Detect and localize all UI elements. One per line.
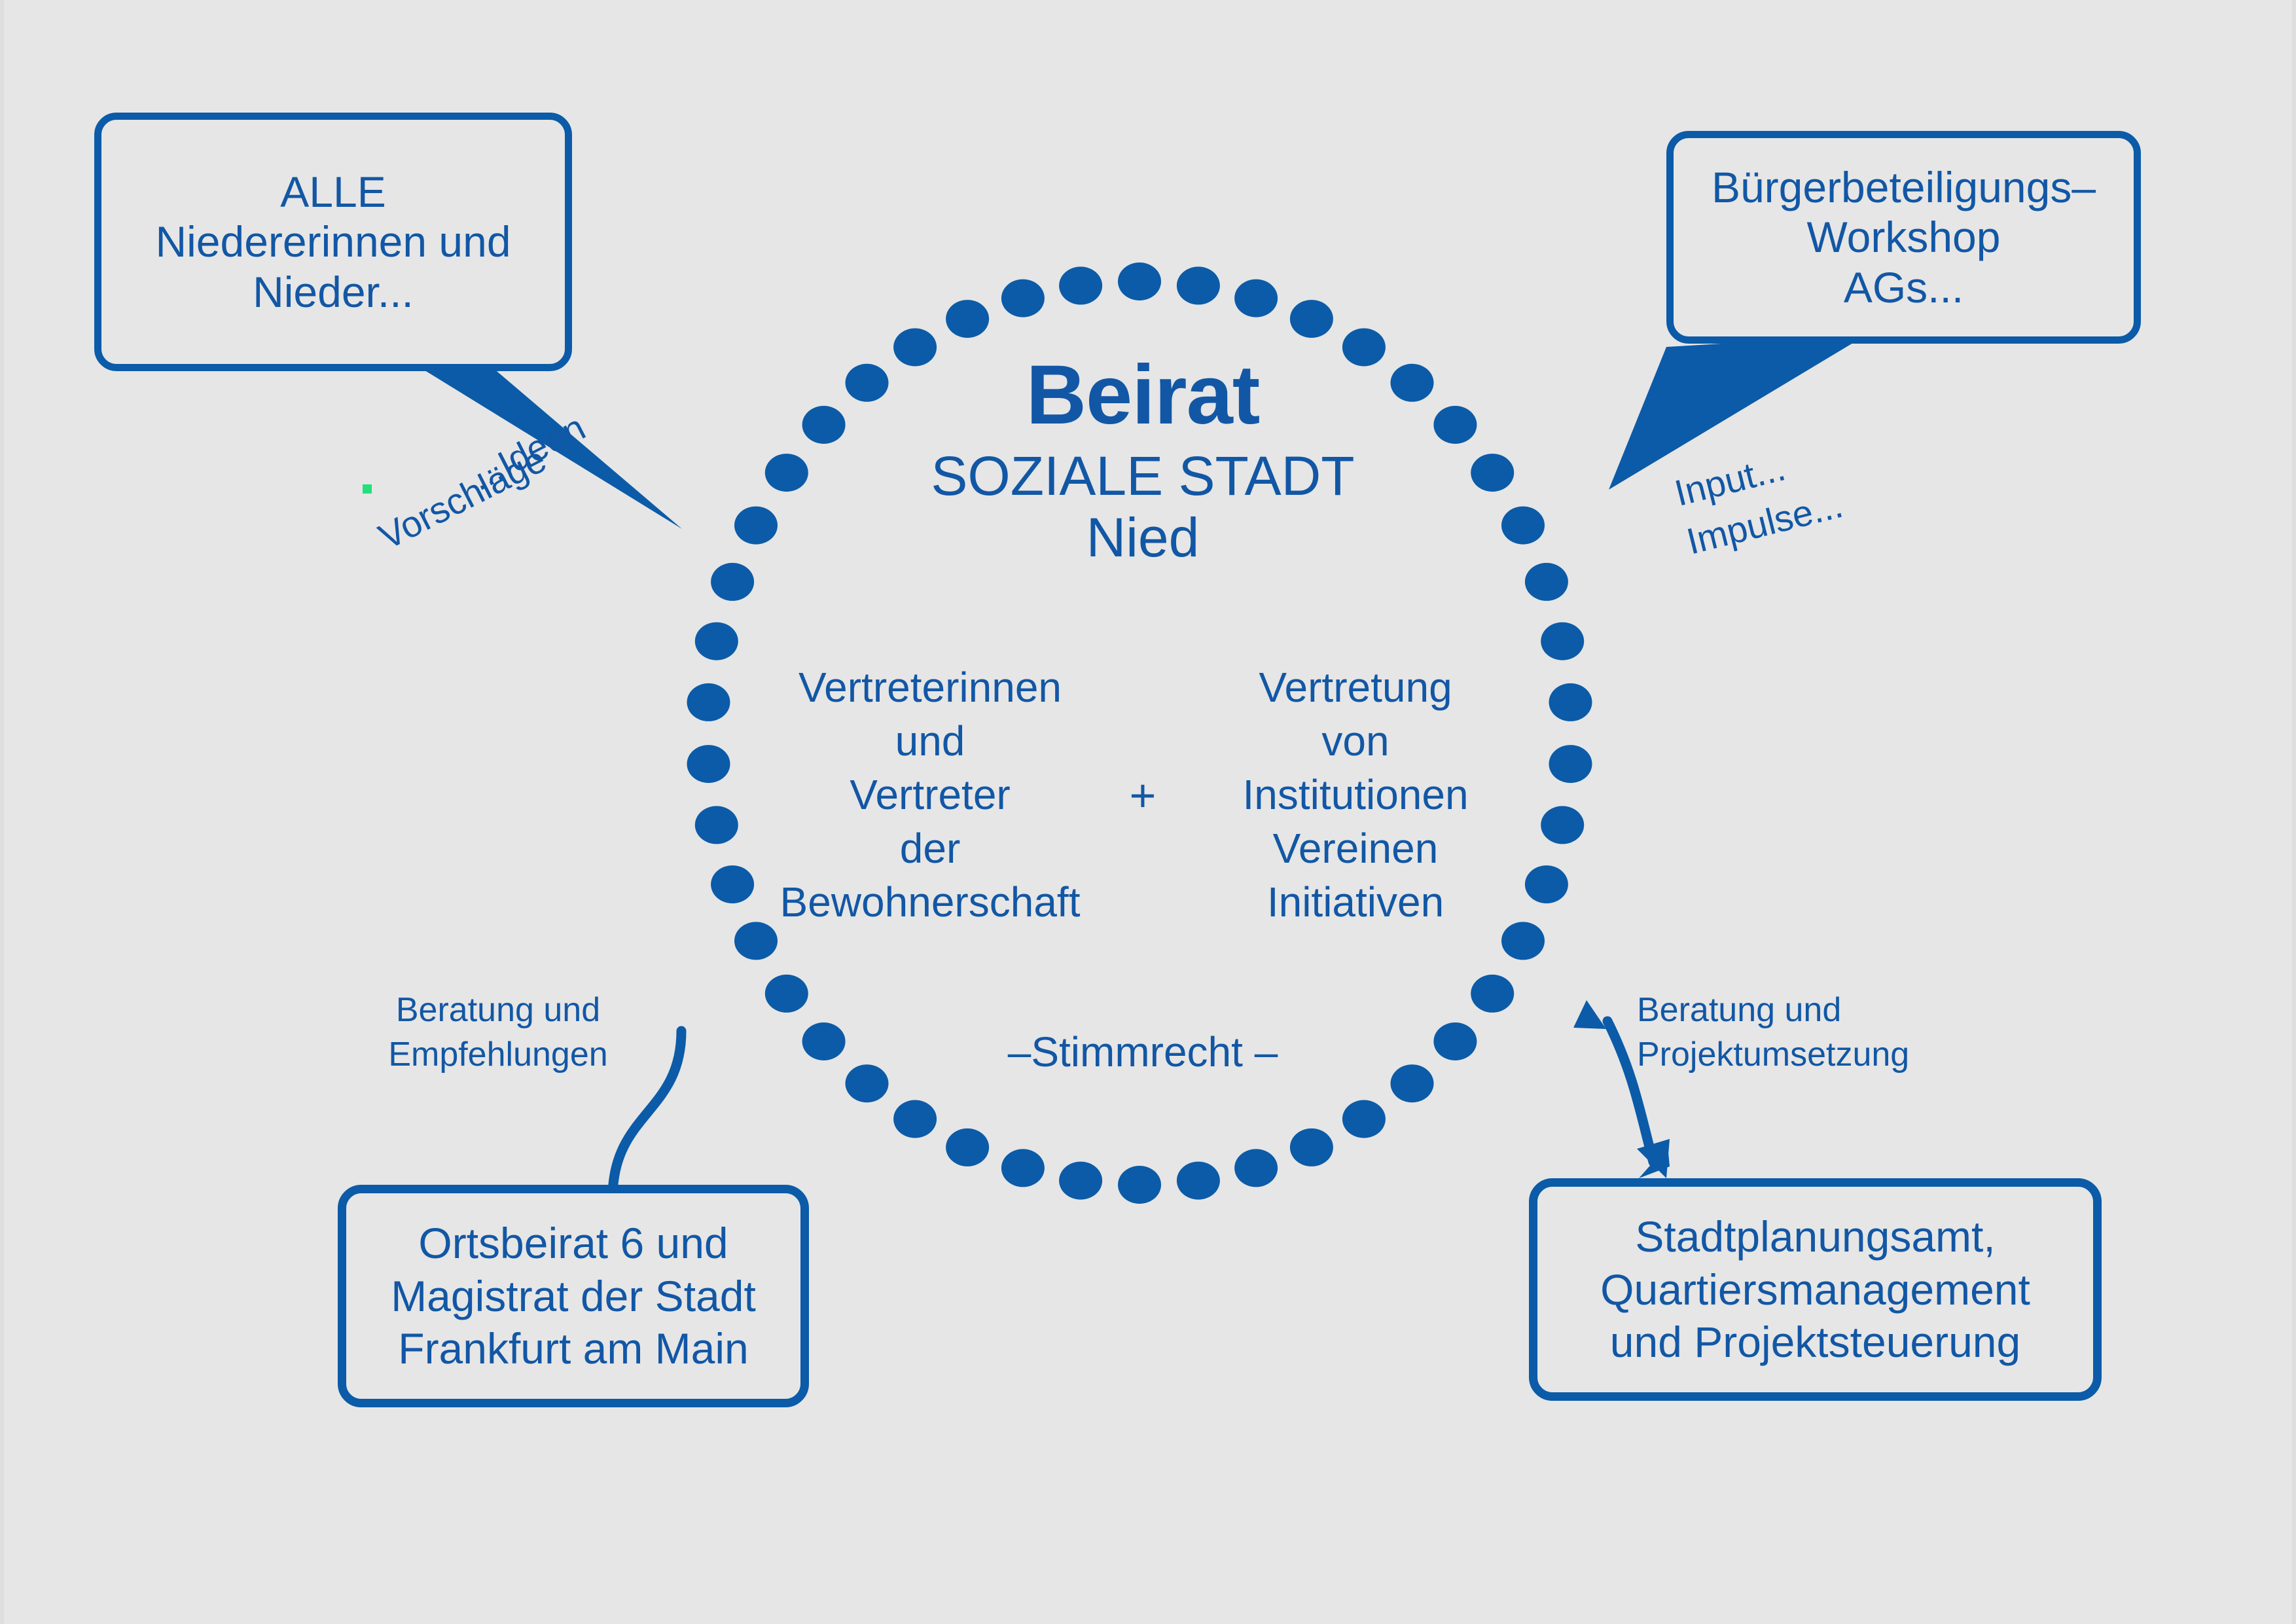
column-institutions: Vertretung von Institutionen Vereinen In…: [1172, 661, 1539, 929]
beirat-composition: Vertreterinnen und Vertreter der Bewohne…: [698, 661, 1588, 929]
column-residents-line-5: Bewohnerschaft: [747, 876, 1113, 929]
annotation-beratung-right-line-2: Projektumsetzung: [1637, 1033, 1964, 1077]
bubble-right-line-2: Workshop: [1807, 212, 2001, 262]
plus-symbol: +: [1113, 769, 1172, 821]
ring-dot: [1177, 266, 1220, 304]
bubble-right-line-1: Bürgerbeteiligungs–: [1712, 162, 2096, 213]
box-left-line-3: Frankfurt am Main: [398, 1322, 748, 1375]
subtitle-soziale-stadt: SOZIALE STADT: [698, 445, 1588, 507]
ring-dot: [1471, 975, 1514, 1013]
box-left-line-1: Ortsbeirat 6 und: [418, 1217, 728, 1270]
column-institutions-line-4: Vereinen: [1172, 822, 1539, 876]
annotation-beratung-empfehlungen: Beratung und Empfehlungen: [357, 988, 639, 1077]
bubble-left-line-1: ALLE: [280, 167, 386, 217]
annotation-beratung-right-line-1: Beratung und: [1637, 988, 1964, 1033]
center-heading-group: Beirat SOZIALE STADT Nied: [698, 353, 1588, 568]
box-stadtplanungsamt[interactable]: Stadtplanungsamt, Quartiersmanagement un…: [1529, 1178, 2102, 1401]
ring-dot: [1290, 1128, 1333, 1166]
green-marker-dot: [363, 484, 372, 494]
ring-dot: [1541, 623, 1584, 660]
column-institutions-line-5: Initiativen: [1172, 876, 1539, 929]
ring-dot: [946, 300, 989, 338]
bubble-left-line-2: Niedererinnen und: [155, 217, 511, 267]
ring-dot: [1525, 563, 1568, 601]
annotation-beratung-left-line-2: Empfehlungen: [357, 1033, 639, 1077]
ring-dot: [1118, 262, 1161, 300]
box-right-line-1: Stadtplanungsamt,: [1635, 1210, 1995, 1263]
ring-dot: [893, 1100, 937, 1138]
ring-dot: [695, 623, 738, 660]
box-ortsbeirat-magistrat[interactable]: Ortsbeirat 6 und Magistrat der Stadt Fra…: [338, 1185, 809, 1407]
ring-dot: [1234, 1149, 1278, 1187]
box-right-line-3: und Projektsteuerung: [1610, 1316, 2020, 1369]
diagram-canvas: ALLE Niedererinnen und Nieder... Bürgerb…: [0, 0, 2296, 1624]
ring-dot: [1118, 1166, 1161, 1204]
column-institutions-line-1: Vertretung: [1172, 661, 1539, 715]
column-institutions-line-3: Institutionen: [1172, 768, 1539, 822]
bubble-right-line-3: AGs...: [1844, 262, 1964, 313]
ring-dot: [1001, 280, 1045, 317]
ring-dot: [946, 1128, 989, 1166]
box-right-line-2: Quartiersmanagement: [1600, 1263, 2030, 1316]
ring-dot: [1234, 280, 1278, 317]
ring-dot: [711, 563, 754, 601]
speech-bubble-residents[interactable]: ALLE Niedererinnen und Nieder...: [94, 113, 572, 371]
bubble-left-line-3: Nieder...: [253, 267, 414, 317]
ring-dot: [1177, 1162, 1220, 1200]
column-residents: Vertreterinnen und Vertreter der Bewohne…: [747, 661, 1113, 929]
voting-rights-note: –Stimmrecht –: [698, 1028, 1588, 1076]
subtitle-nied: Nied: [698, 507, 1588, 568]
annotation-beratung-projektumsetzung: Beratung und Projektumsetzung: [1637, 988, 1964, 1077]
column-residents-line-1: Vertreterinnen: [747, 661, 1113, 715]
ring-dot: [1290, 300, 1333, 338]
speech-bubble-participation[interactable]: Bürgerbeteiligungs– Workshop AGs...: [1666, 131, 2141, 344]
ring-dot: [1059, 1162, 1102, 1200]
column-residents-line-4: der: [747, 822, 1113, 876]
ring-dot: [1059, 266, 1102, 304]
page-title: Beirat: [698, 353, 1588, 437]
column-residents-line-3: Vertreter: [747, 768, 1113, 822]
column-residents-line-2: und: [747, 715, 1113, 768]
ring-dot: [1001, 1149, 1045, 1187]
column-institutions-line-2: von: [1172, 715, 1539, 768]
annotation-beratung-left-line-1: Beratung und: [357, 988, 639, 1033]
ring-dot: [765, 975, 808, 1013]
ring-dot: [1342, 1100, 1386, 1138]
box-left-line-2: Magistrat der Stadt: [391, 1270, 756, 1323]
